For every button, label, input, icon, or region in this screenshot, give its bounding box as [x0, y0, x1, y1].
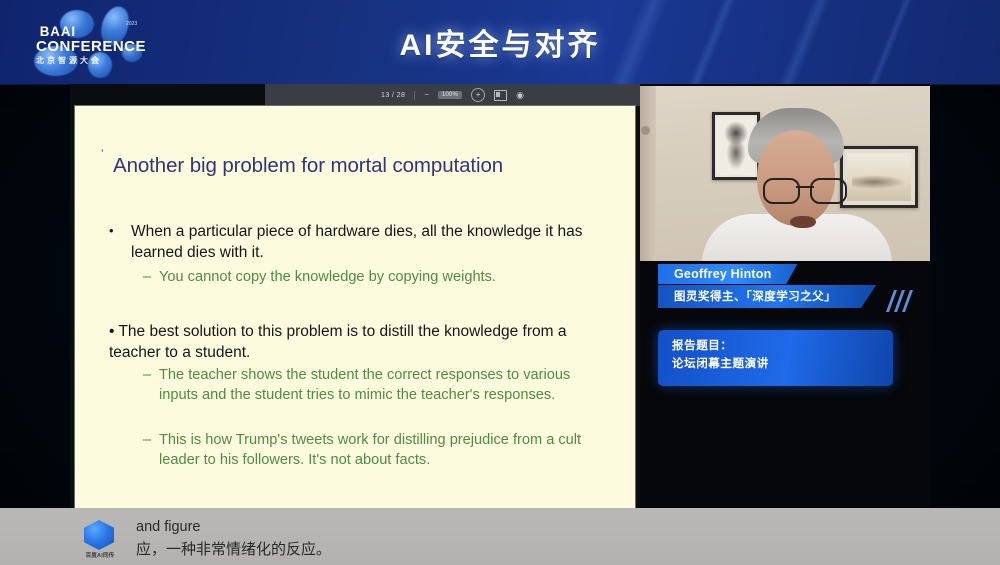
slide-bullet-1-text: When a particular piece of hardware dies…: [131, 222, 609, 263]
zoom-in-button[interactable]: +: [471, 88, 485, 102]
caption-bar: 百度AI同传 and figure 应，一种非常情绪化的反应。: [0, 508, 1000, 565]
speaker-face: [757, 130, 835, 226]
speaker-head: [748, 108, 844, 228]
eyeglasses-icon: [763, 178, 847, 200]
slide-bullet-1: • When a particular piece of hardware di…: [109, 222, 609, 263]
speaker-subtitle: 图灵奖得主、「深度学习之父」: [658, 285, 876, 308]
topic-card: 报告题目： 论坛闭幕主题演讲: [658, 330, 893, 386]
slide-title-tick-icon: ’: [101, 148, 103, 160]
zoom-out-button[interactable]: −: [424, 91, 429, 99]
broadcast-screen: BAAI CONFERENCE 北京智源大会 2023 AI安全与对齐 13 /…: [0, 0, 1000, 565]
toolbar-divider: [414, 91, 415, 100]
header-bar: BAAI CONFERENCE 北京智源大会 2023 AI安全与对齐: [0, 0, 1000, 85]
zoom-level: 100%: [438, 91, 462, 99]
slide-bullet-2-text: The best solution to this problem is to …: [109, 323, 566, 361]
content-frame: 13 / 28 − 100% + ◉ ’ Another big problem…: [70, 84, 930, 508]
slide-subbullet-2-2: – This is how Trump's tweets work for di…: [143, 431, 613, 471]
page-indicator: 13 / 28: [381, 92, 405, 99]
caption-logo-text: 百度AI同传: [78, 551, 122, 559]
fit-page-icon[interactable]: [494, 90, 507, 101]
slide-title-text: Another big problem for mortal computati…: [113, 154, 503, 177]
slide-bullet-2: • The best solution to this problem is t…: [109, 322, 619, 363]
bullet-dot-icon: •: [109, 222, 114, 239]
speaker-name: Geoffrey Hinton: [658, 264, 797, 284]
doorknob: [641, 126, 650, 135]
caption-text: and figure 应，一种非常情绪化的反应。: [136, 518, 896, 560]
slide-subbullet-2-2-text: This is how Trump's tweets work for dist…: [159, 431, 613, 471]
framed-landscape-painting: [840, 146, 918, 208]
wall-edge: [640, 86, 656, 261]
topic-value: 论坛闭幕主题演讲: [672, 356, 893, 374]
topic-label: 报告题目：: [672, 338, 893, 356]
presentation-slide[interactable]: ’ Another big problem for mortal computa…: [75, 106, 635, 508]
speaker-mouth: [790, 216, 816, 228]
slide-subbullet-2-1-text: The teacher shows the student the correc…: [159, 366, 613, 406]
bullet-dot-icon: •: [109, 323, 114, 340]
dash-icon: –: [143, 431, 151, 451]
slide-subbullet-2-1: – The teacher shows the student the corr…: [143, 366, 613, 406]
cube-icon: [84, 520, 114, 550]
slide-subbullet-1-1: – You cannot copy the knowledge by copyi…: [143, 268, 613, 288]
print-icon[interactable]: ◉: [516, 91, 524, 100]
slide-title: ’ Another big problem for mortal computa…: [113, 154, 613, 178]
caption-english: and figure: [136, 518, 896, 538]
speaker-webcam-image: [640, 86, 930, 261]
page-title: AI安全与对齐: [0, 0, 1000, 84]
speaker-video-panel[interactable]: Geoffrey Hinton 图灵奖得主、「深度学习之父」 报告题目： 论坛闭…: [640, 84, 930, 508]
caption-chinese: 应，一种非常情绪化的反应。: [136, 540, 896, 560]
speaker-name-badge: Geoffrey Hinton 图灵奖得主、「深度学习之父」: [658, 264, 908, 308]
badge-slash-decor-icon: [890, 290, 916, 312]
slide-subbullet-1-1-text: You cannot copy the knowledge by copying…: [159, 268, 613, 288]
baidu-ai-translate-logo: 百度AI同传: [78, 520, 122, 560]
slide-viewer-toolbar[interactable]: 13 / 28 − 100% + ◉: [265, 84, 640, 106]
dash-icon: –: [143, 366, 151, 386]
dash-icon: –: [143, 268, 151, 288]
